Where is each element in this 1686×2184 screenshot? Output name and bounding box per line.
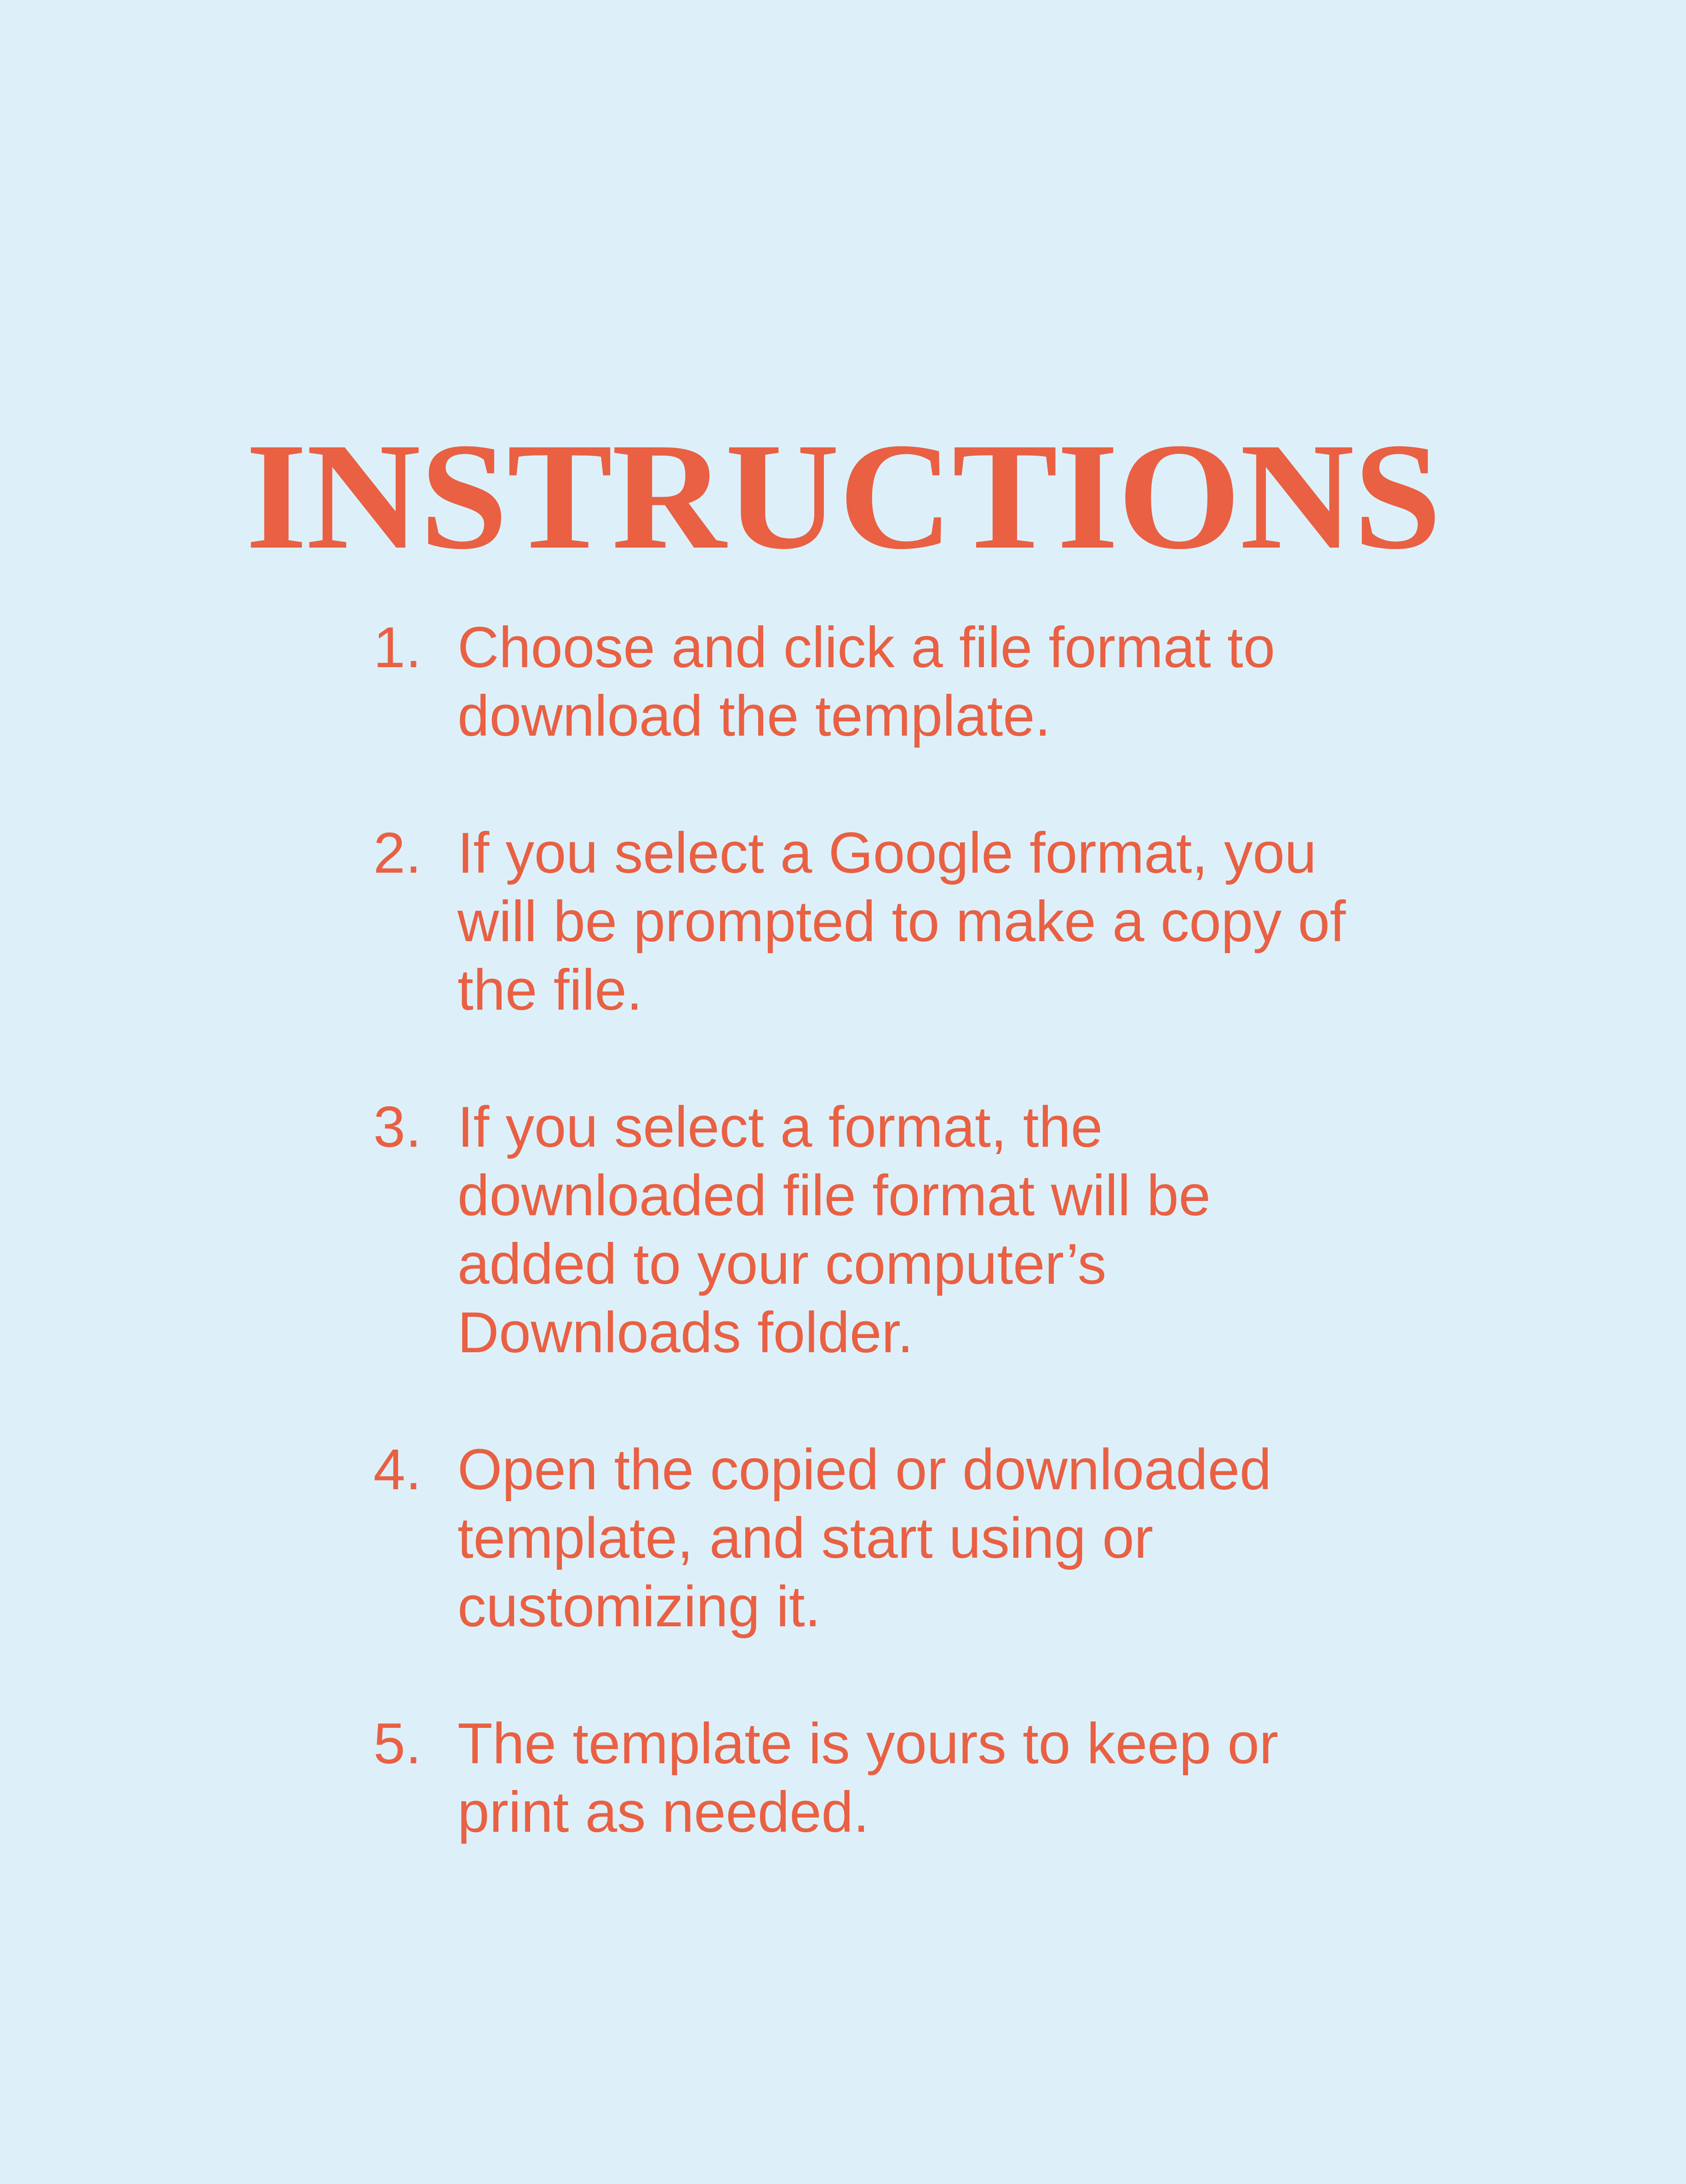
step-text: If you select a Google format, you will …: [457, 819, 1354, 1024]
list-item: 1. Choose and click a file format to dow…: [373, 613, 1366, 750]
list-item: 5. The template is yours to keep or prin…: [373, 1709, 1366, 1847]
instruction-steps-list: 1. Choose and click a file format to dow…: [355, 613, 1366, 1847]
list-item: 3. If you select a format, the downloade…: [373, 1093, 1366, 1367]
step-number: 2.: [373, 819, 457, 887]
page-title: INSTRUCTIONS: [246, 420, 1440, 573]
step-text: Choose and click a file format to downlo…: [457, 613, 1354, 750]
step-number: 1.: [373, 613, 457, 682]
step-text: The template is yours to keep or print a…: [457, 1709, 1354, 1847]
list-item: 2. If you select a Google format, you wi…: [373, 819, 1366, 1024]
step-text: Open the copied or downloaded template, …: [457, 1435, 1354, 1641]
instructions-page: INSTRUCTIONS 1. Choose and click a file …: [0, 0, 1686, 2184]
step-number: 4.: [373, 1435, 457, 1504]
step-text: If you select a format, the downloaded f…: [457, 1093, 1354, 1367]
list-item: 4. Open the copied or downloaded templat…: [373, 1435, 1366, 1641]
step-number: 5.: [373, 1709, 457, 1778]
step-number: 3.: [373, 1093, 457, 1161]
